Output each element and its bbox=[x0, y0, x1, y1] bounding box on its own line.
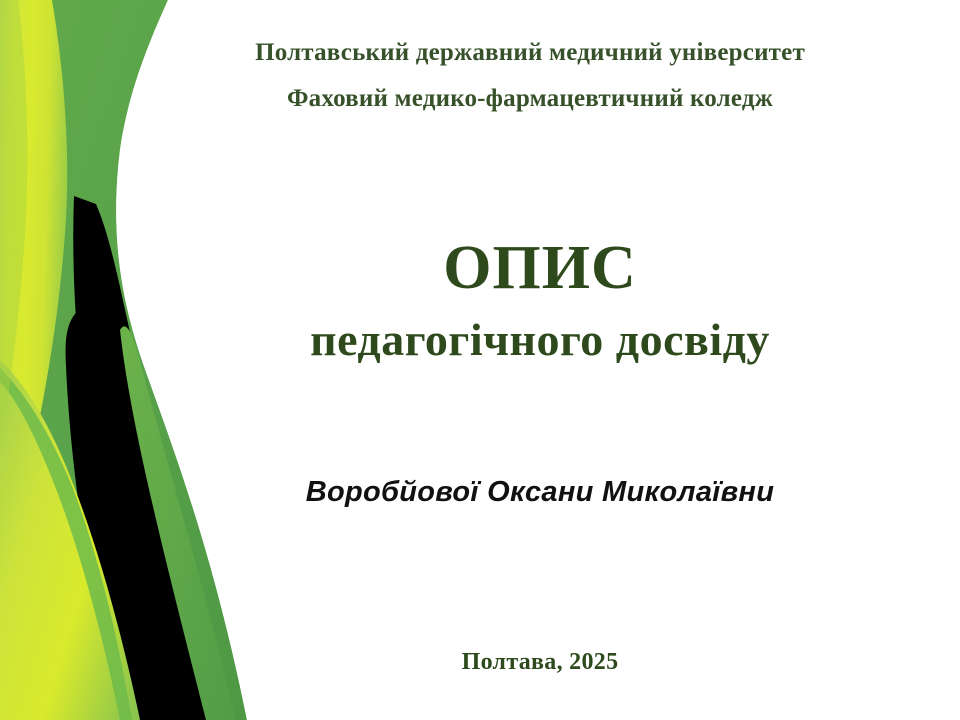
place-and-year: Полтава, 2025 bbox=[200, 646, 880, 678]
college-name: Фаховий медико-фармацевтичний коледж bbox=[170, 76, 890, 122]
slide-content: Полтавський державний медичний університ… bbox=[0, 0, 960, 720]
author-name: Воробйової Оксани Миколаївни bbox=[200, 472, 880, 512]
university-name: Полтавський державний медичний університ… bbox=[170, 30, 890, 76]
slide-title-block: ОПИС педагогічного досвіду bbox=[200, 232, 880, 370]
title-slide: Полтавський державний медичний університ… bbox=[0, 0, 960, 720]
page-subtitle: педагогічного досвіду bbox=[200, 310, 880, 370]
page-title: ОПИС bbox=[200, 232, 880, 304]
institution-header: Полтавський державний медичний університ… bbox=[170, 30, 890, 122]
author-block: Воробйової Оксани Миколаївни bbox=[200, 472, 880, 512]
footer-block: Полтава, 2025 bbox=[200, 646, 880, 678]
